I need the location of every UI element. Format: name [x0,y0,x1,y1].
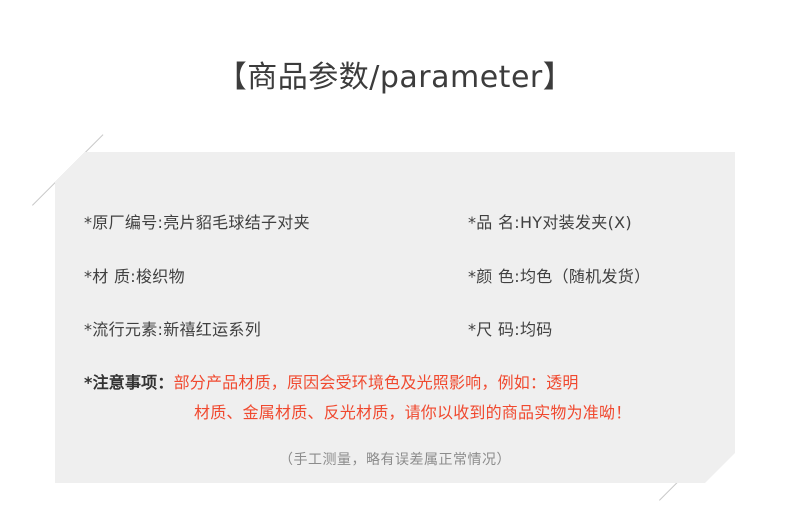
spec-fashion-element: *流行元素:新禧红运系列 [84,315,261,345]
spec-row: *原厂编号:亮片貂毛球结子对夹 *品 名:HY对装发夹(X) [55,208,735,238]
parameter-panel: *原厂编号:亮片貂毛球结子对夹 *品 名:HY对装发夹(X) *材 质:梭织物 … [55,152,735,483]
notice-line-1: 部分产品材质，原因会受环境色及光照影响，例如：透明 [174,373,579,392]
spec-size: *尺 码:均码 [468,315,553,345]
notice-block: *注意事项：部分产品材质，原因会受环境色及光照影响，例如：透明 材质、金属材质、… [84,368,714,428]
spec-product-name: *品 名:HY对装发夹(X) [468,208,632,238]
spec-row: *流行元素:新禧红运系列 *尺 码:均码 [55,315,735,345]
page-title: 【商品参数/parameter】 [0,58,790,98]
spec-row: *材 质:梭织物 *颜 色:均色（随机发货） [55,262,735,292]
spec-grid: *原厂编号:亮片貂毛球结子对夹 *品 名:HY对装发夹(X) *材 质:梭织物 … [55,152,735,483]
spec-factory-code: *原厂编号:亮片貂毛球结子对夹 [84,208,310,238]
notice-line-2: 材质、金属材质、反光材质，请你以收到的商品实物为准呦！ [84,398,714,428]
spec-color: *颜 色:均色（随机发货） [468,262,650,292]
notice-label: *注意事项： [84,373,174,392]
measurement-footnote: （手工测量，略有误差属正常情况） [55,449,735,471]
spec-material: *材 质:梭织物 [84,262,185,292]
product-parameter-page: 【商品参数/parameter】 *原厂编号:亮片貂毛球结子对夹 *品 名:HY… [0,0,790,527]
